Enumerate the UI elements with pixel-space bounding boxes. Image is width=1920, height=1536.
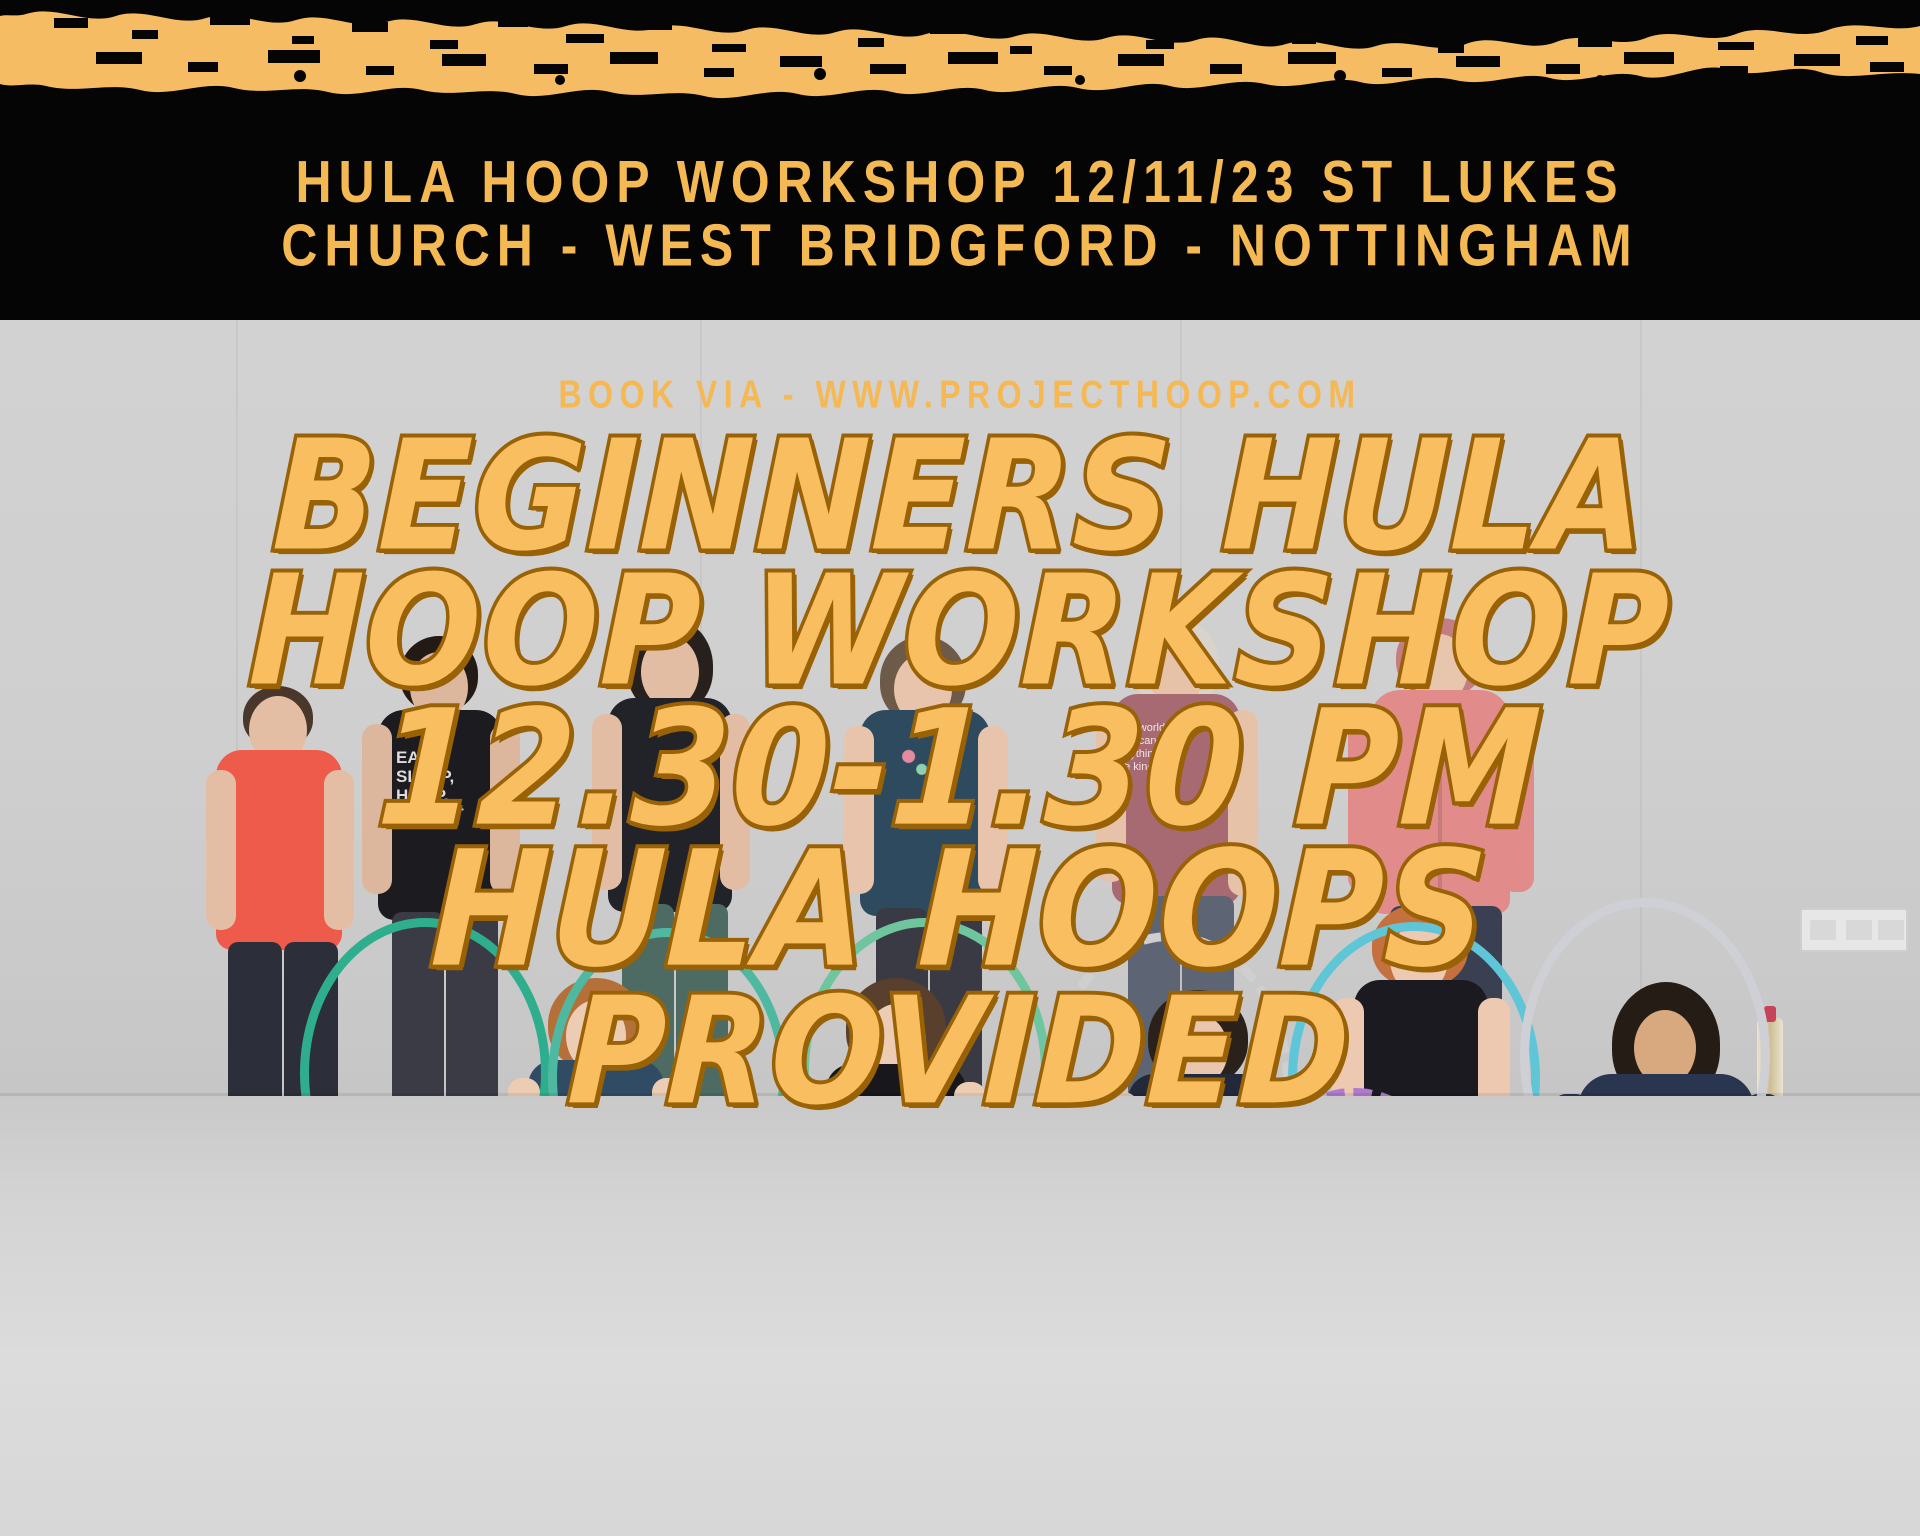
header-title: HULA HOOP WORKSHOP 12/11/23 ST LUKES CHU… (0, 150, 1920, 277)
wall-socket (1800, 908, 1908, 952)
booking-line[interactable]: BOOK VIA - WWW.PROJECTHOOP.COM (0, 372, 1920, 417)
poster-root: EAT, SLEEP,HOOP, REPEAT (0, 0, 1920, 1536)
studio-floor (0, 1096, 1920, 1536)
grunge-texture (0, 0, 1920, 108)
header-bar: HULA HOOP WORKSHOP 12/11/23 ST LUKES CHU… (0, 0, 1920, 320)
header-line-2: CHURCH - WEST BRIDGFORD - NOTTINGHAM (0, 214, 1920, 278)
event-photo: EAT, SLEEP,HOOP, REPEAT (0, 318, 1920, 1536)
header-line-1: HULA HOOP WORKSHOP 12/11/23 ST LUKES (0, 150, 1920, 214)
